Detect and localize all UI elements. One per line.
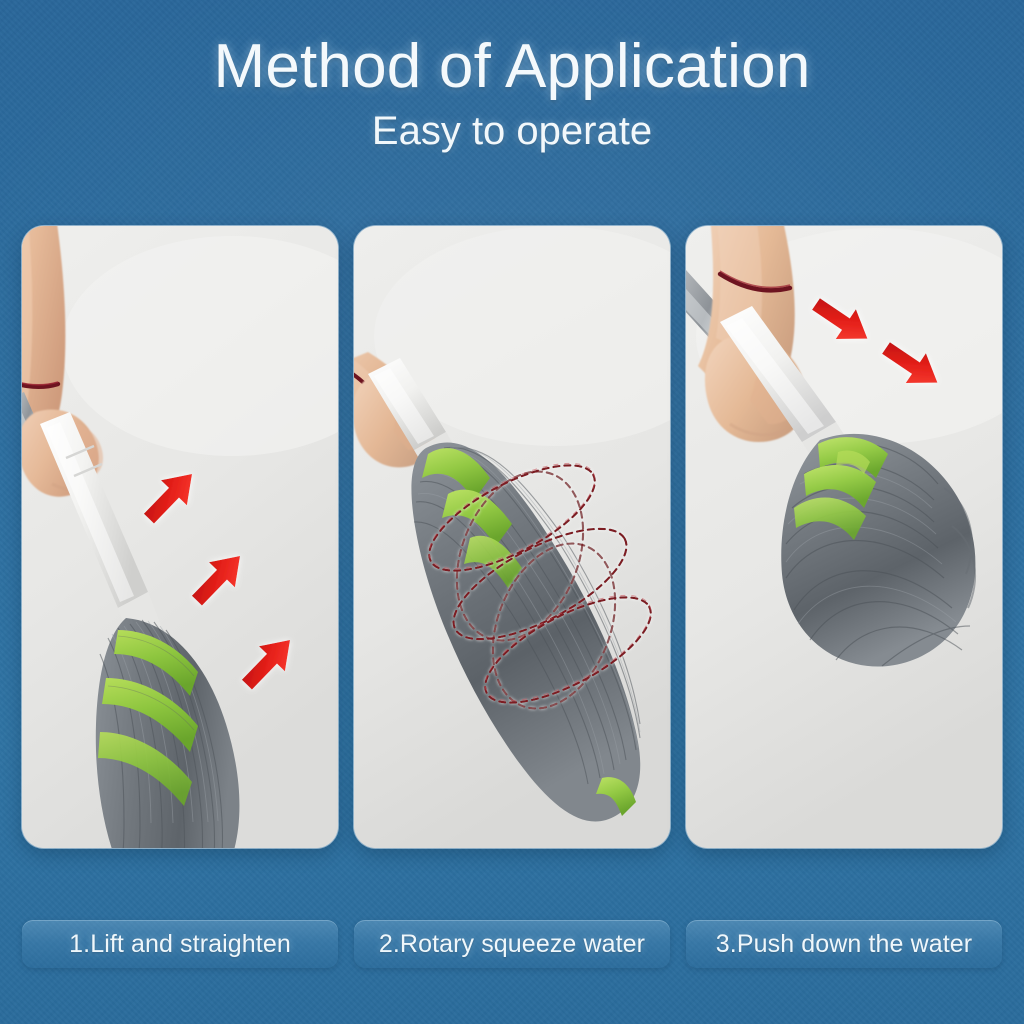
caption-step-3: 3.Push down the water [686,920,1002,968]
caption-step-2: 2.Rotary squeeze water [354,920,670,968]
step-panels [22,226,1002,848]
step-captions: 1.Lift and straighten 2.Rotary squeeze w… [22,920,1002,968]
page-subtitle: Easy to operate [0,109,1024,154]
step-3-photo [686,226,1002,848]
panel-push-down-the-water[interactable] [686,226,1002,848]
caption-step-1: 1.Lift and straighten [22,920,338,968]
panel-rotary-squeeze-water[interactable] [354,226,670,848]
step-1-photo [22,226,338,848]
step-2-photo [354,226,670,848]
panel-lift-and-straighten[interactable] [22,226,338,848]
page-title: Method of Application [0,0,1024,99]
header: Method of Application Easy to operate [0,0,1024,154]
